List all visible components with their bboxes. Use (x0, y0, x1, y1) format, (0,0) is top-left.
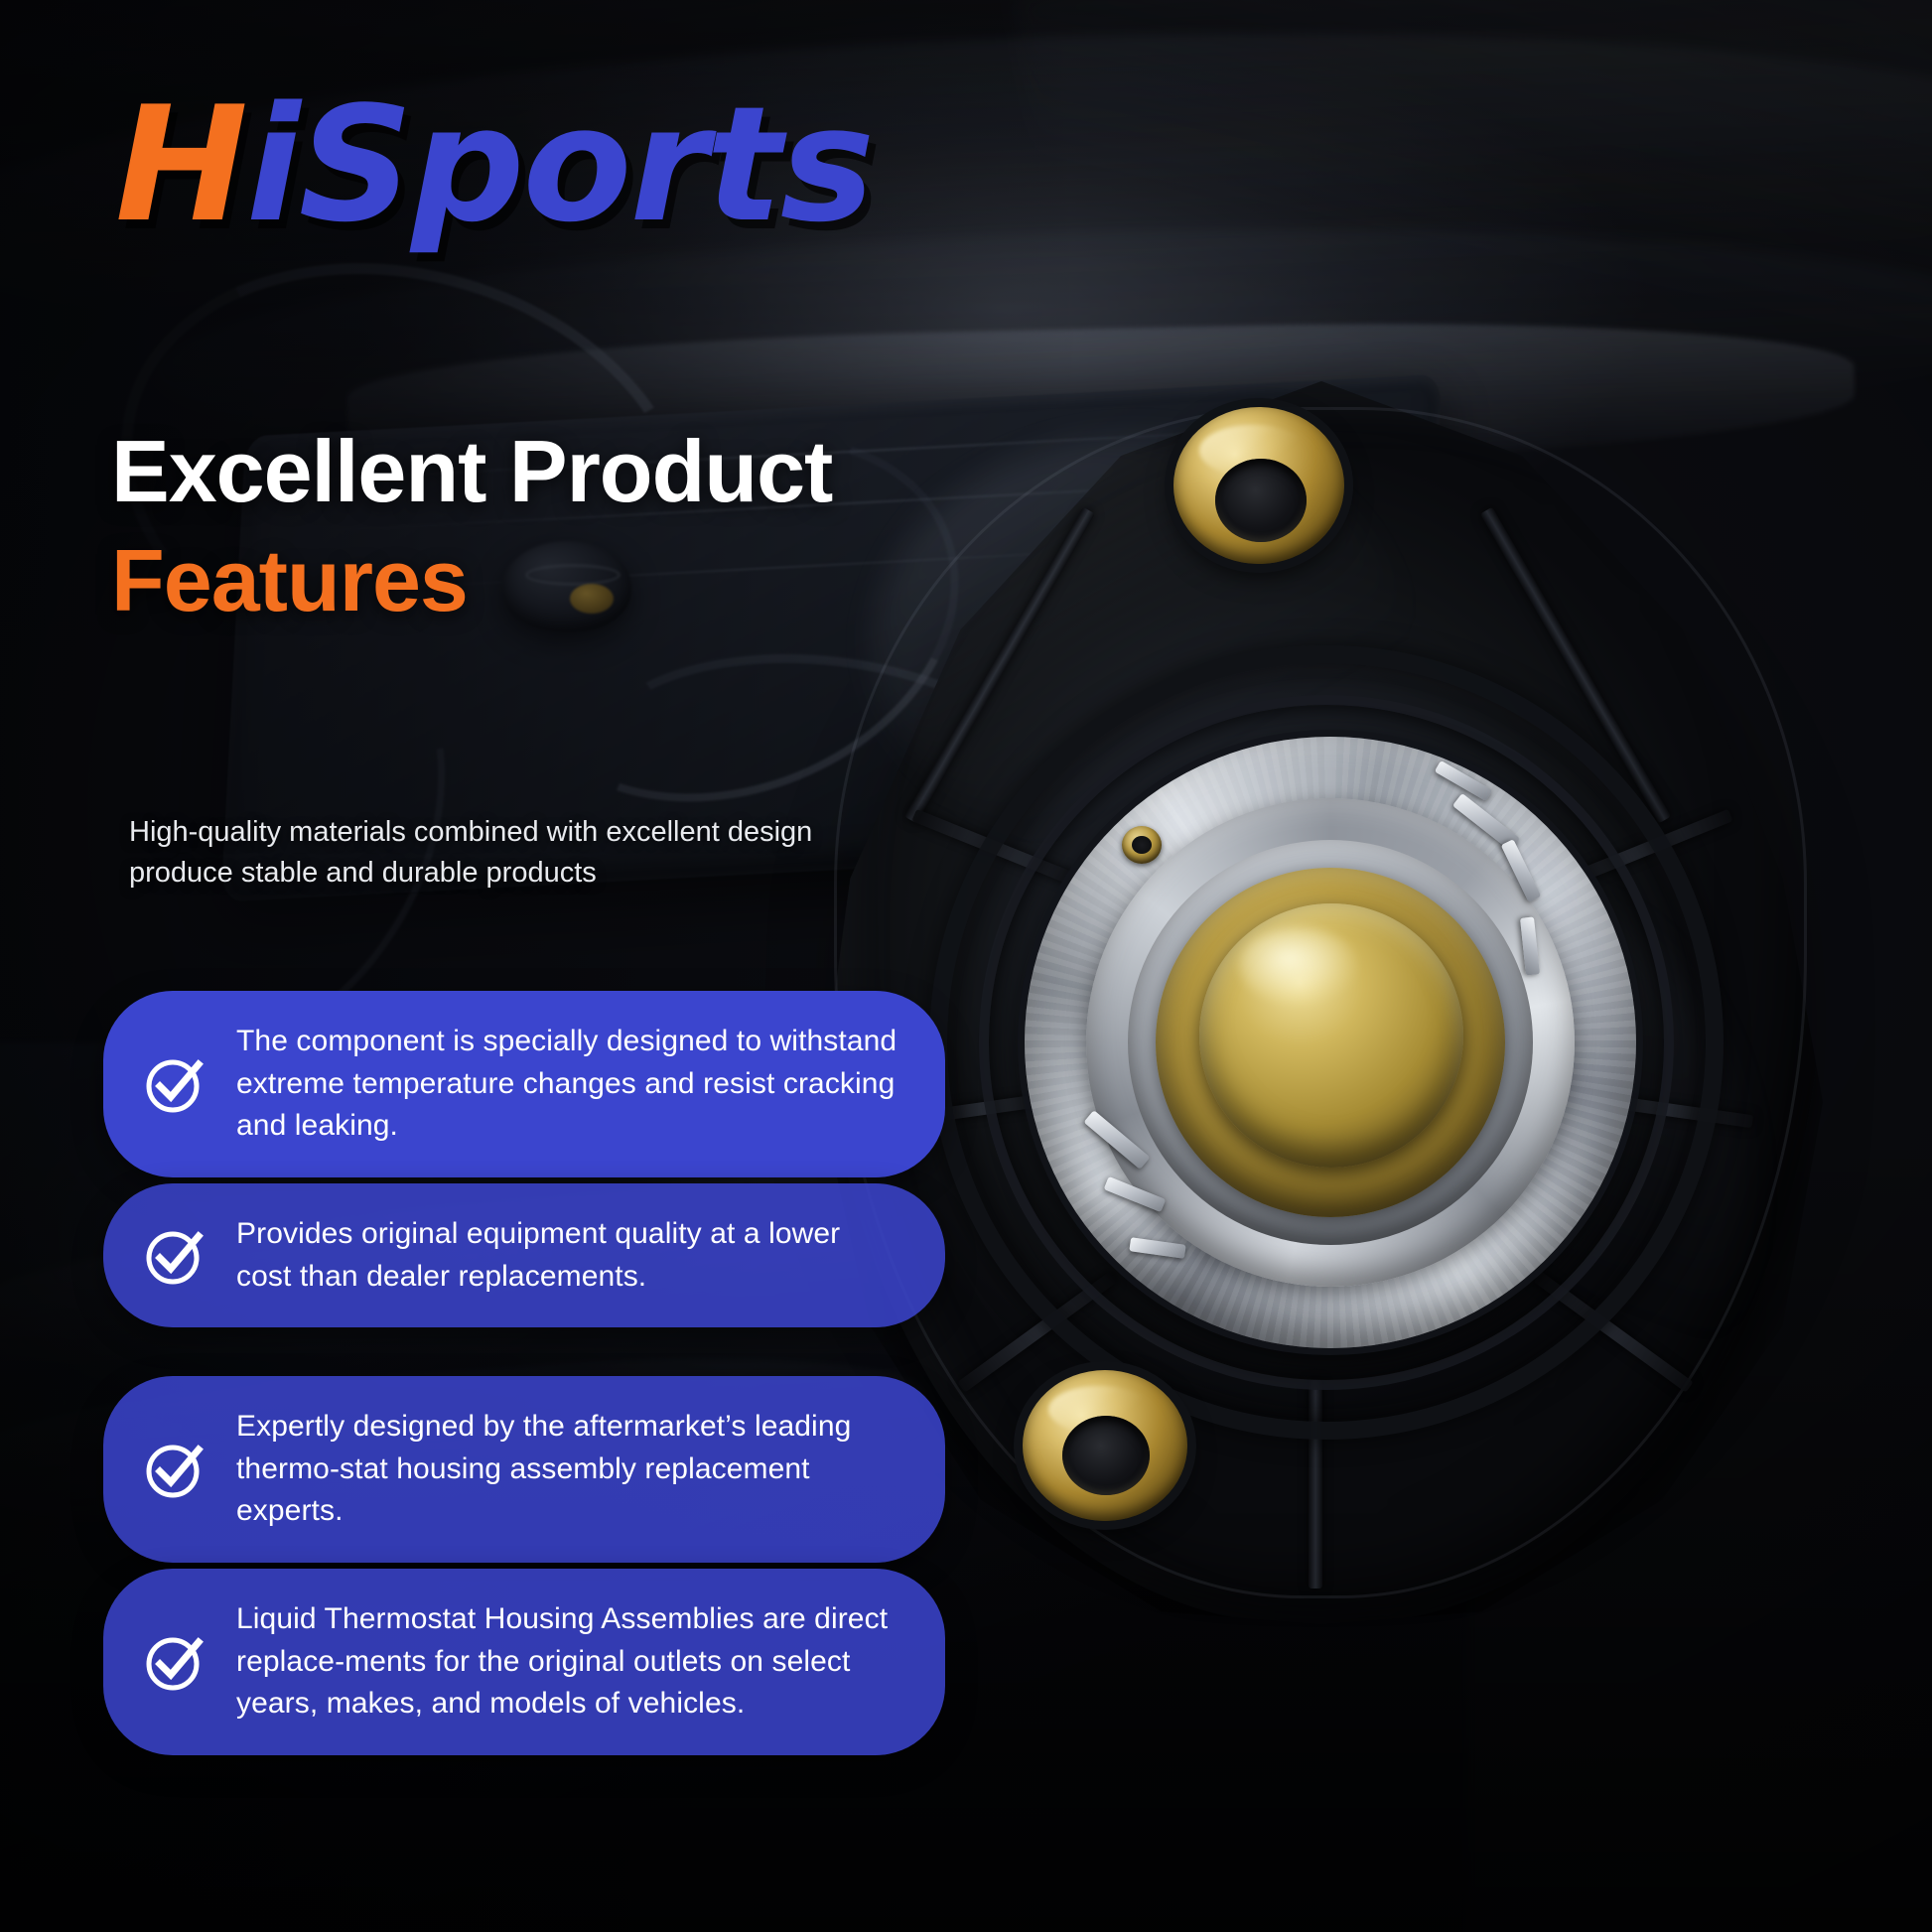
feature-text-3: Expertly designed by the aftermarket’s l… (236, 1406, 901, 1533)
feature-pill-4: Liquid Thermostat Housing Assemblies are… (103, 1569, 945, 1755)
feature-text-1: The component is specially designed to w… (236, 1021, 901, 1148)
check-circle-icon (143, 1438, 207, 1501)
brand-logo-prefix: H (115, 71, 246, 257)
check-circle-icon (143, 1224, 207, 1288)
check-circle-icon (143, 1630, 207, 1694)
feature-text-2: Provides original equipment quality at a… (236, 1213, 901, 1298)
content-layer: HiSports Excellent Product Features High… (0, 0, 1932, 1932)
feature-pill-3: Expertly designed by the aftermarket’s l… (103, 1376, 945, 1563)
page-title: Excellent Product (111, 427, 1064, 516)
feature-pill-1: The component is specially designed to w… (103, 991, 945, 1177)
page-subtitle: Features (111, 536, 1064, 625)
check-circle-icon (143, 1052, 207, 1116)
feature-text-4: Liquid Thermostat Housing Assemblies are… (236, 1598, 901, 1725)
brand-logo-suffix: iSports (246, 71, 873, 257)
feature-pill-2: Provides original equipment quality at a… (103, 1183, 945, 1327)
brand-logo: HiSports (115, 85, 873, 244)
intro-paragraph: High-quality materials combined with exc… (129, 812, 923, 894)
